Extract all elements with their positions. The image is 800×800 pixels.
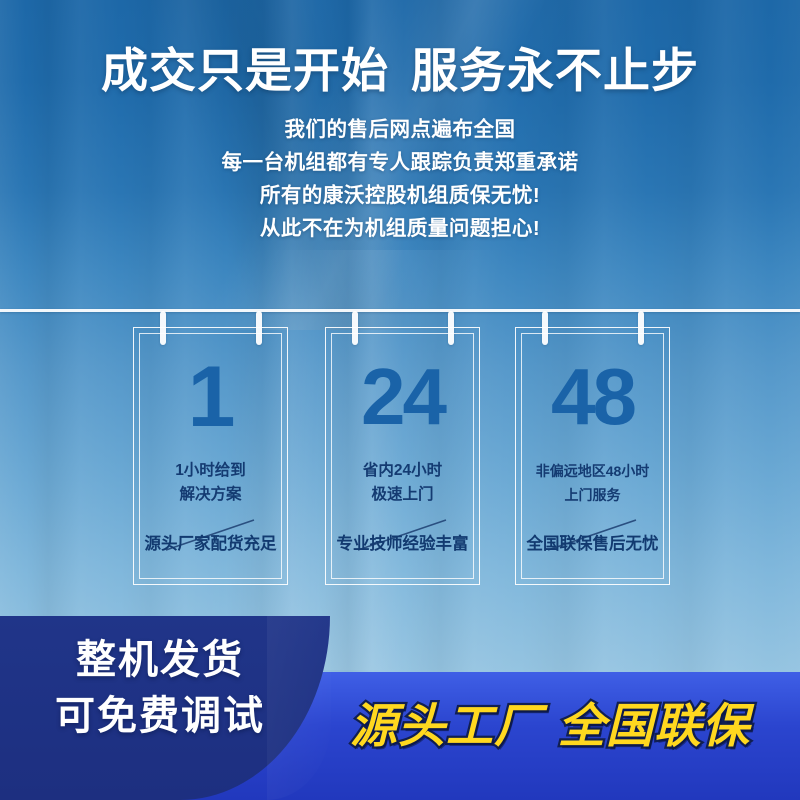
- subtitle-line-3: 所有的康沃控股机组质保无忧!: [0, 179, 800, 212]
- card-footer-2: 专业技师经验丰富: [326, 534, 479, 554]
- service-card-1: 1 1小时给到 解决方案 源头厂家配货充足: [133, 327, 288, 585]
- yellow-text-left: 源头工厂: [350, 699, 542, 752]
- card-footer-1: 源头厂家配货充足: [134, 534, 287, 554]
- subtitle-line-1: 我们的售后网点遍布全国: [0, 113, 800, 146]
- service-promise-poster: 成交只是开始服务永不止步 我们的售后网点遍布全国 每一台机组都有专人跟踪负责郑重…: [0, 0, 800, 800]
- page-title: 成交只是开始服务永不止步: [0, 42, 800, 100]
- headline-right: 服务永不止步: [411, 44, 699, 97]
- card-desc-1: 1小时给到 解决方案: [134, 459, 287, 507]
- hanging-rail: [0, 309, 800, 312]
- card-desc-2-line1: 省内24小时: [326, 459, 479, 483]
- headline-left: 成交只是开始: [101, 44, 389, 97]
- subtitle-line-2: 每一台机组都有专人跟踪负责郑重承诺: [0, 146, 800, 179]
- card-desc-1-line2: 解决方案: [134, 483, 287, 507]
- bottom-navy-text: 整机发货 可免费调试: [20, 632, 300, 744]
- navy-text-line2: 可免费调试: [20, 688, 300, 744]
- card-desc-3-line1: 非偏远地区48小时: [516, 459, 669, 483]
- card-number-1: 1: [134, 354, 287, 440]
- subtitle-line-4: 从此不在为机组质量问题担心!: [0, 212, 800, 245]
- card-desc-3-line2: 上门服务: [516, 483, 669, 507]
- subtitle-block: 我们的售后网点遍布全国 每一台机组都有专人跟踪负责郑重承诺 所有的康沃控股机组质…: [0, 113, 800, 245]
- service-card-2: 24 省内24小时 极速上门 专业技师经验丰富: [325, 327, 480, 585]
- card-footer-3: 全国联保售后无忧: [516, 534, 669, 554]
- yellow-text-right: 全国联保: [558, 699, 750, 752]
- card-number-2: 24: [326, 354, 479, 440]
- card-desc-2: 省内24小时 极速上门: [326, 459, 479, 507]
- card-desc-2-line2: 极速上门: [326, 483, 479, 507]
- navy-text-line1: 整机发货: [20, 632, 300, 688]
- service-card-3: 48 非偏远地区48小时 上门服务 全国联保售后无忧: [515, 327, 670, 585]
- bottom-yellow-text: 源头工厂全国联保: [300, 697, 800, 755]
- card-desc-1-line1: 1小时给到: [134, 459, 287, 483]
- card-desc-3: 非偏远地区48小时 上门服务: [516, 459, 669, 507]
- card-number-3: 48: [516, 354, 669, 440]
